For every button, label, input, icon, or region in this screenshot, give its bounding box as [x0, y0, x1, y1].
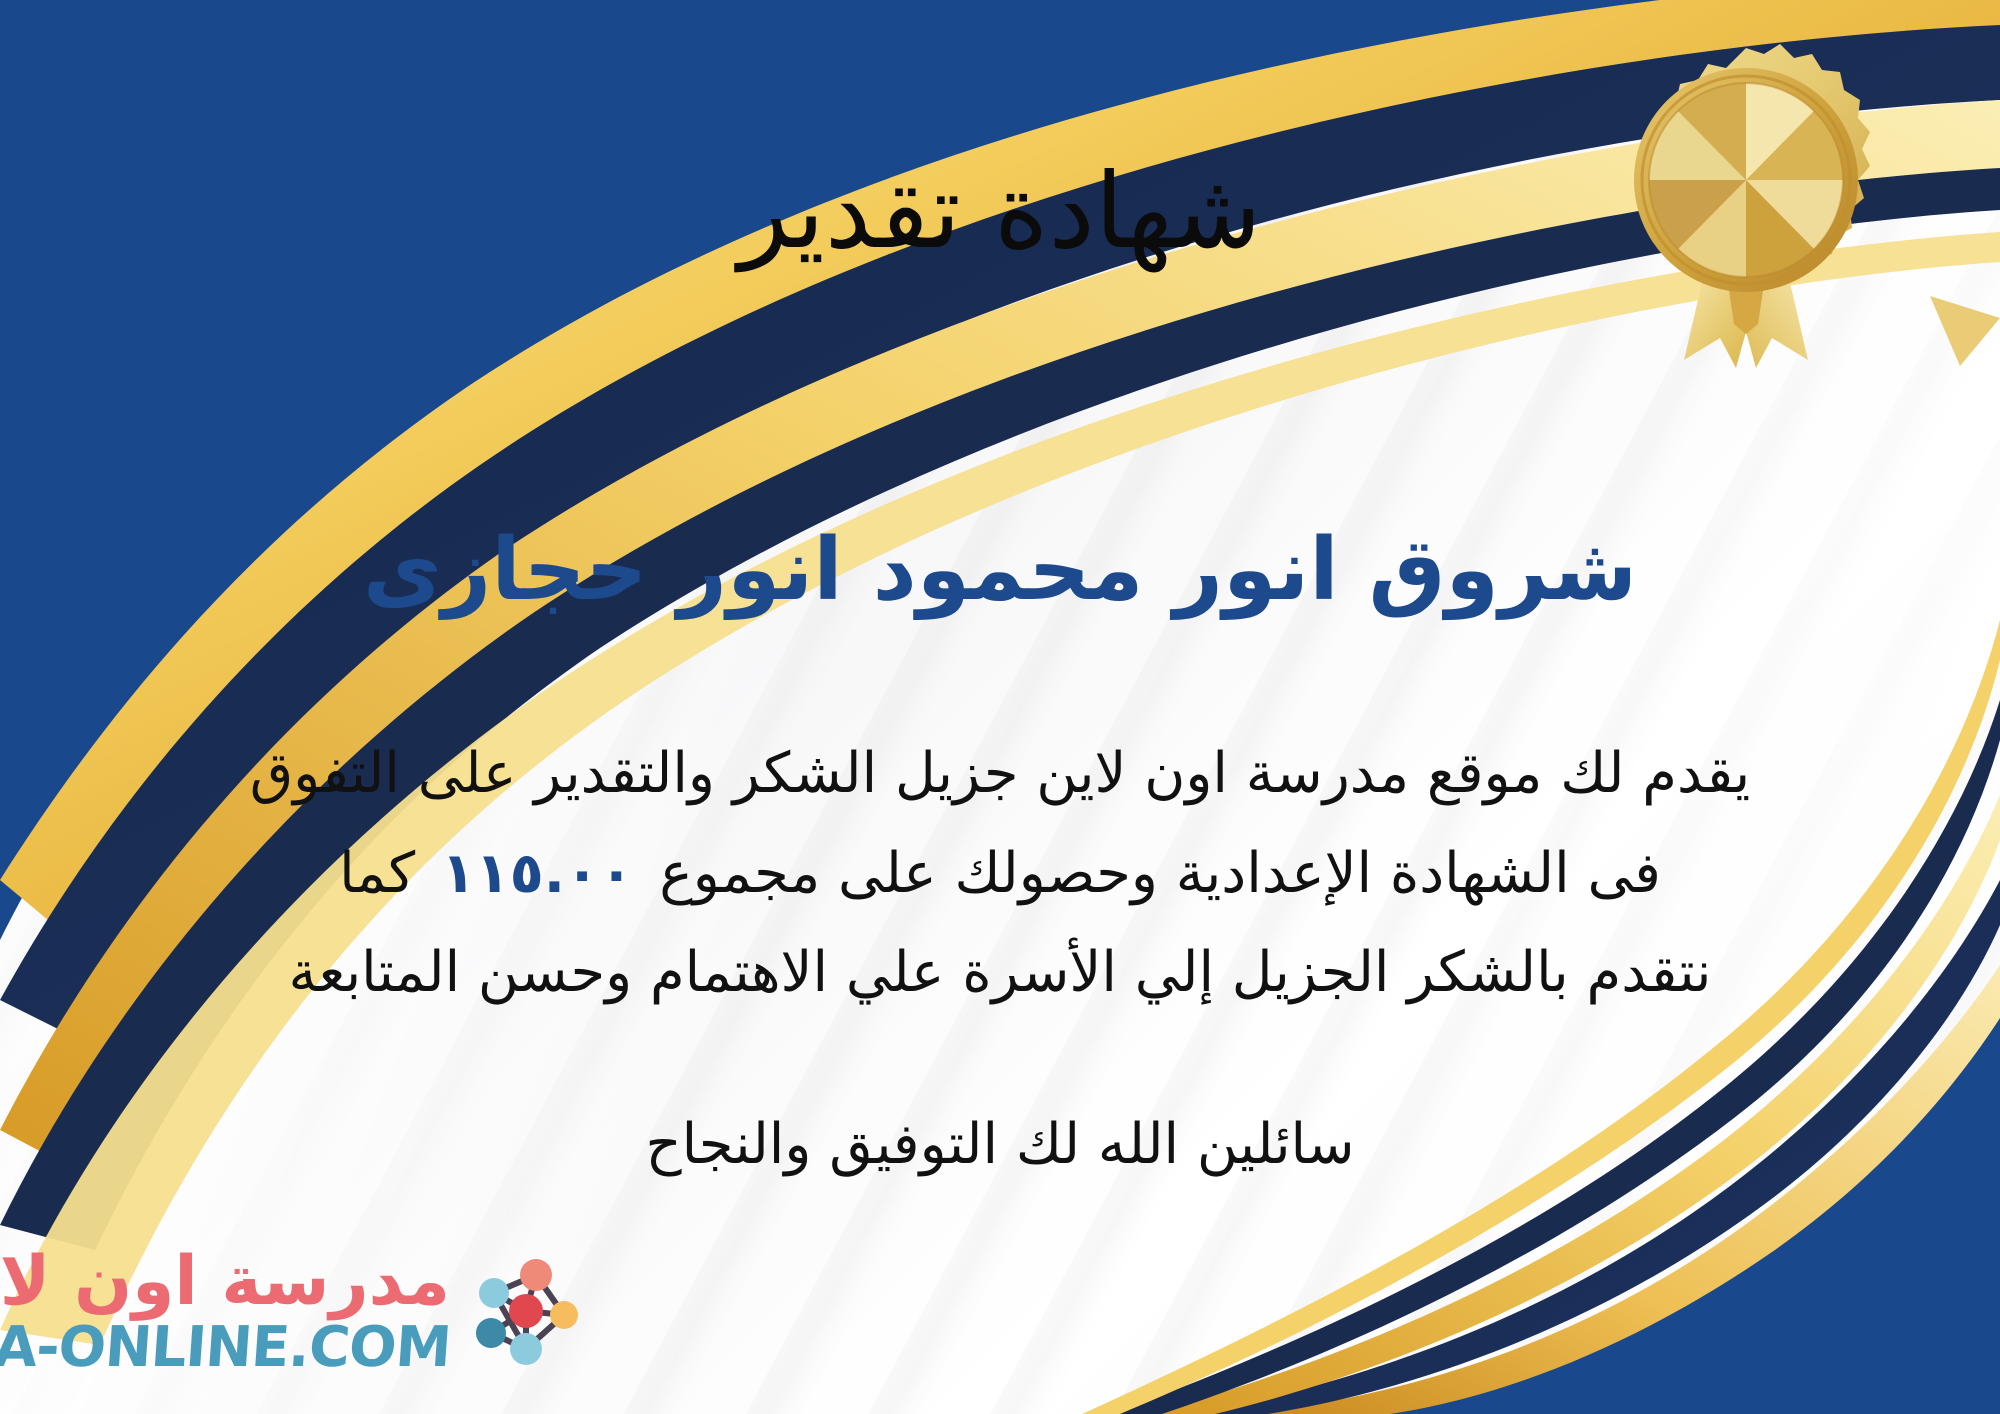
- recipient-name: شروق انور محمود انور حجازى: [0, 517, 2000, 625]
- body-line-2: فى الشهادة الإعدادية وحصولك على مجموع١١٥…: [60, 824, 1940, 924]
- brand-arabic-name: مدرسة اون لاين: [0, 1246, 450, 1318]
- brand-text: مدرسة اون لاين MADRSA-ONLINE.COM: [0, 1246, 450, 1377]
- page-title: شهادة تقدير: [0, 150, 2000, 273]
- body-text: يقدم لك موقع مدرسة اون لاين جزيل الشكر و…: [60, 724, 1940, 1023]
- body-line-3: نتقدم بالشكر الجزيل إلي الأسرة علي الاهت…: [60, 923, 1940, 1023]
- certificate-page: شهادة تقدير شروق انور محمود انور حجازى ي…: [0, 0, 2000, 1414]
- brand-logo[interactable]: مدرسة اون لاين MADRSA-ONLINE.COM: [22, 1232, 582, 1392]
- closing-line: سائلين الله لك التوفيق والنجاح: [0, 1100, 2000, 1190]
- body-line-2-before: فى الشهادة الإعدادية وحصولك على مجموع: [659, 841, 1661, 906]
- body-line-1: يقدم لك موقع مدرسة اون لاين جزيل الشكر و…: [60, 724, 1940, 824]
- score-value: ١١٥.٠٠: [415, 841, 659, 906]
- body-line-2-after: كما: [339, 841, 415, 906]
- network-nodes-icon: [464, 1253, 582, 1371]
- certificate-content: شهادة تقدير شروق انور محمود انور حجازى ي…: [0, 0, 2000, 1414]
- brand-url[interactable]: MADRSA-ONLINE.COM: [0, 1318, 452, 1377]
